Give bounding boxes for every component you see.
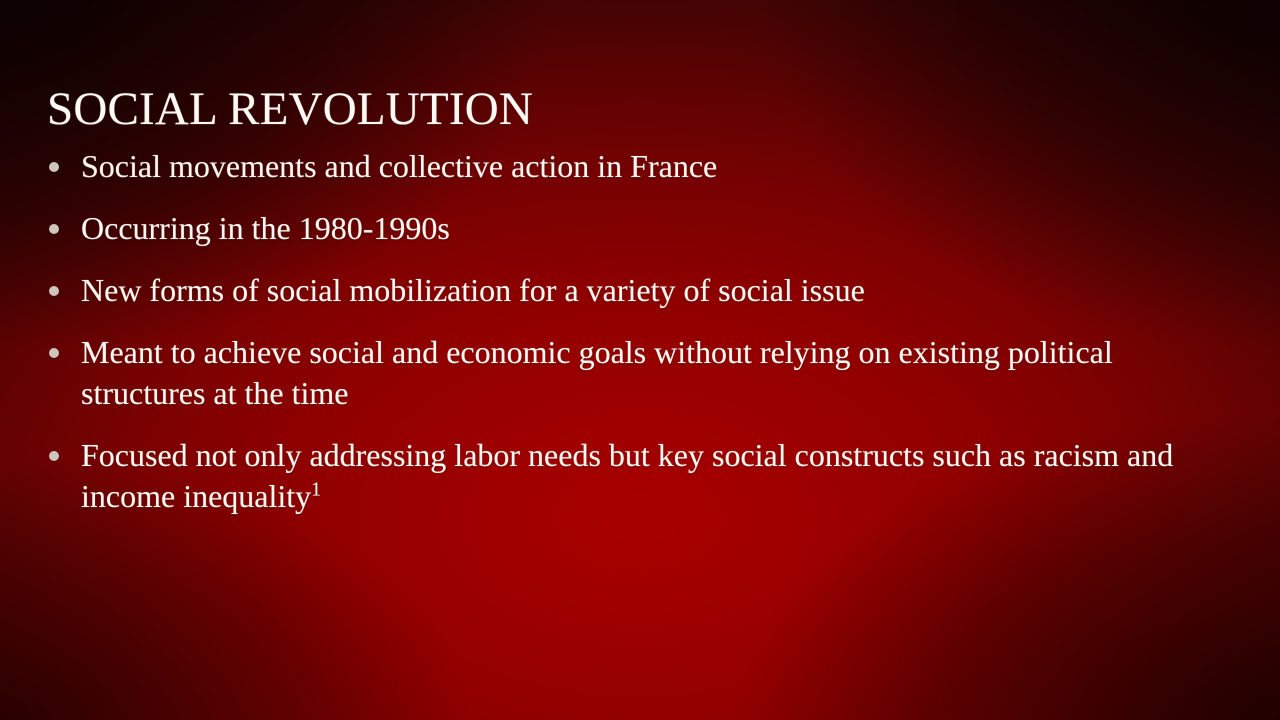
footnote-reference: 1 xyxy=(311,478,321,500)
list-item-label: Meant to achieve social and economic goa… xyxy=(81,332,1234,414)
bullet-dot-icon xyxy=(49,451,59,461)
bullet-list: Social movements and collective action i… xyxy=(44,146,1234,517)
list-item: Occurring in the 1980-1990s xyxy=(44,208,1234,249)
list-item-label: Occurring in the 1980-1990s xyxy=(81,208,1234,249)
bullet-dot-icon xyxy=(49,348,59,358)
list-item-label: Focused not only addressing labor needs … xyxy=(81,435,1234,517)
list-item: Social movements and collective action i… xyxy=(44,146,1234,187)
list-item: Focused not only addressing labor needs … xyxy=(44,435,1234,517)
presentation-slide: SOCIAL REVOLUTION Social movements and c… xyxy=(0,0,1280,720)
page-title: SOCIAL REVOLUTION xyxy=(47,85,1227,134)
list-item-label: New forms of social mobilization for a v… xyxy=(81,270,1234,311)
list-item-label: Social movements and collective action i… xyxy=(81,146,1234,187)
list-item: Meant to achieve social and economic goa… xyxy=(44,332,1234,414)
bullet-dot-icon xyxy=(49,286,59,296)
bullet-dot-icon xyxy=(49,224,59,234)
bullet-dot-icon xyxy=(49,162,59,172)
list-item: New forms of social mobilization for a v… xyxy=(44,270,1234,311)
slide-content: SOCIAL REVOLUTION Social movements and c… xyxy=(0,0,1280,720)
